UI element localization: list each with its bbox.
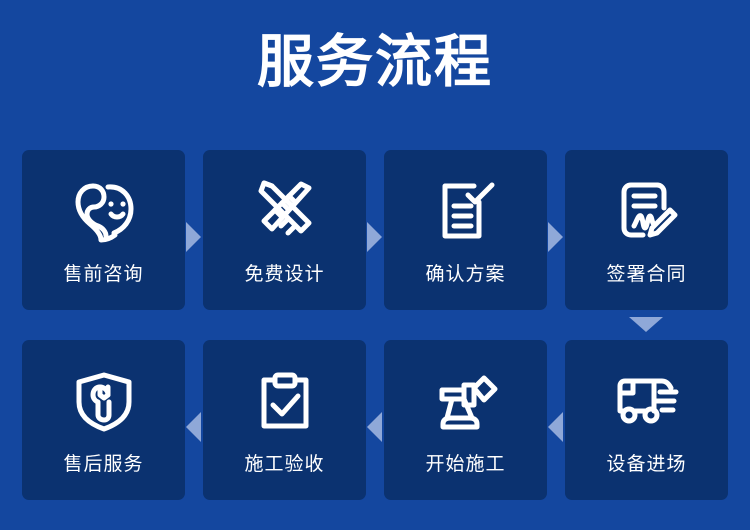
process-step-card-7[interactable]: 施工验收 [203,340,366,500]
checklist-clipboard-icon [384,172,547,252]
process-step-card-8[interactable]: 售后服务 [22,340,185,500]
shield-wrench-icon [22,362,185,442]
arrow-left-icon-1 [186,412,201,442]
process-flow-grid: 售前咨询 免费设计 [0,0,750,530]
arrow-down-icon [629,317,663,332]
process-step-label: 开始施工 [384,452,547,478]
process-step-label: 售后服务 [22,452,185,478]
process-step-label: 售前咨询 [22,262,185,288]
process-step-label: 签署合同 [565,262,728,288]
service-process-banner: 服务流程 售前咨询 [0,0,750,530]
process-step-card-6[interactable]: 开始施工 [384,340,547,500]
process-step-card-2[interactable]: 免费设计 [203,150,366,310]
phone-smiley-icon [22,172,185,252]
arrow-right-icon-1 [186,222,201,252]
process-step-label: 免费设计 [203,262,366,288]
excavator-icon [384,362,547,442]
process-step-label: 设备进场 [565,452,728,478]
arrow-left-icon-2 [367,412,382,442]
arrow-right-icon-3 [548,222,563,252]
process-step-card-3[interactable]: 确认方案 [384,150,547,310]
process-step-card-1[interactable]: 售前咨询 [22,150,185,310]
clipboard-check-icon [203,362,366,442]
arrow-left-icon-3 [548,412,563,442]
contract-signature-icon [565,172,728,252]
process-step-label: 施工验收 [203,452,366,478]
process-step-label: 确认方案 [384,262,547,288]
delivery-truck-icon [565,362,728,442]
pencil-ruler-icon [203,172,366,252]
arrow-right-icon-2 [367,222,382,252]
process-step-card-5[interactable]: 设备进场 [565,340,728,500]
process-step-card-4[interactable]: 签署合同 [565,150,728,310]
